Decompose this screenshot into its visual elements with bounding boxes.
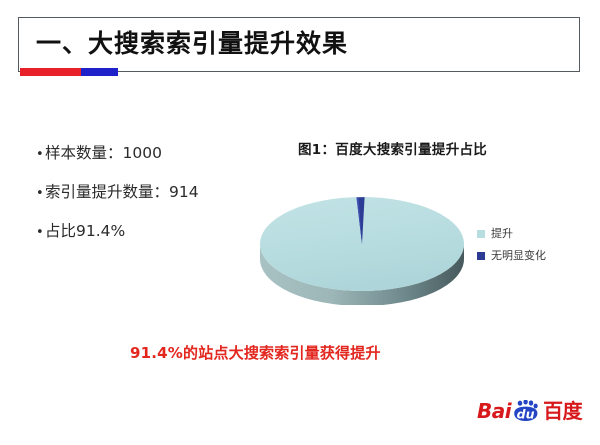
logo-bai-text: Bai [477,401,511,421]
pie-graphic [252,180,472,305]
list-item: • 占比91.4% [36,221,256,243]
pie-chart: 图1：百度大搜索引量提升占比 [240,128,590,318]
pie-top-face [260,197,464,291]
bullet-text: 占比91.4% [45,221,125,241]
baidu-logo: Bai du 百度 [477,398,582,424]
legend-label: 无明显变化 [491,250,546,262]
bullet-marker-icon: • [36,145,45,165]
bullet-list: • 样本数量：1000 • 索引量提升数量：914 • 占比91.4% [36,143,256,260]
bullet-marker-icon: • [36,184,45,204]
bullet-text: 样本数量：1000 [45,143,162,163]
accent-bar-blue [81,68,118,76]
slide-canvas: 一、大搜索索引量提升效果 • 样本数量：1000 • 索引量提升数量：914 •… [0,0,600,445]
legend-item-no-change: 无明显变化 [477,250,587,262]
legend-item-tisheng: 提升 [477,228,587,240]
pie-svg [252,180,472,305]
bullet-marker-icon: • [36,223,45,243]
legend-swatch-icon [477,252,485,260]
bullet-text: 索引量提升数量：914 [45,182,199,202]
logo-hanzi-text: 百度 [543,401,582,421]
chart-legend: 提升 无明显变化 [477,228,587,272]
legend-swatch-icon [477,230,485,238]
logo-du-text: du [517,406,535,421]
conclusion-text: 91.4%的站点大搜索索引量获得提升 [130,342,381,363]
paw-print-icon: du [511,400,541,422]
legend-label: 提升 [491,228,513,240]
accent-bar-red [20,68,81,76]
list-item: • 索引量提升数量：914 [36,182,256,204]
chart-title: 图1：百度大搜索引量提升占比 [298,138,487,158]
list-item: • 样本数量：1000 [36,143,256,165]
page-title: 一、大搜索索引量提升效果 [36,26,348,62]
